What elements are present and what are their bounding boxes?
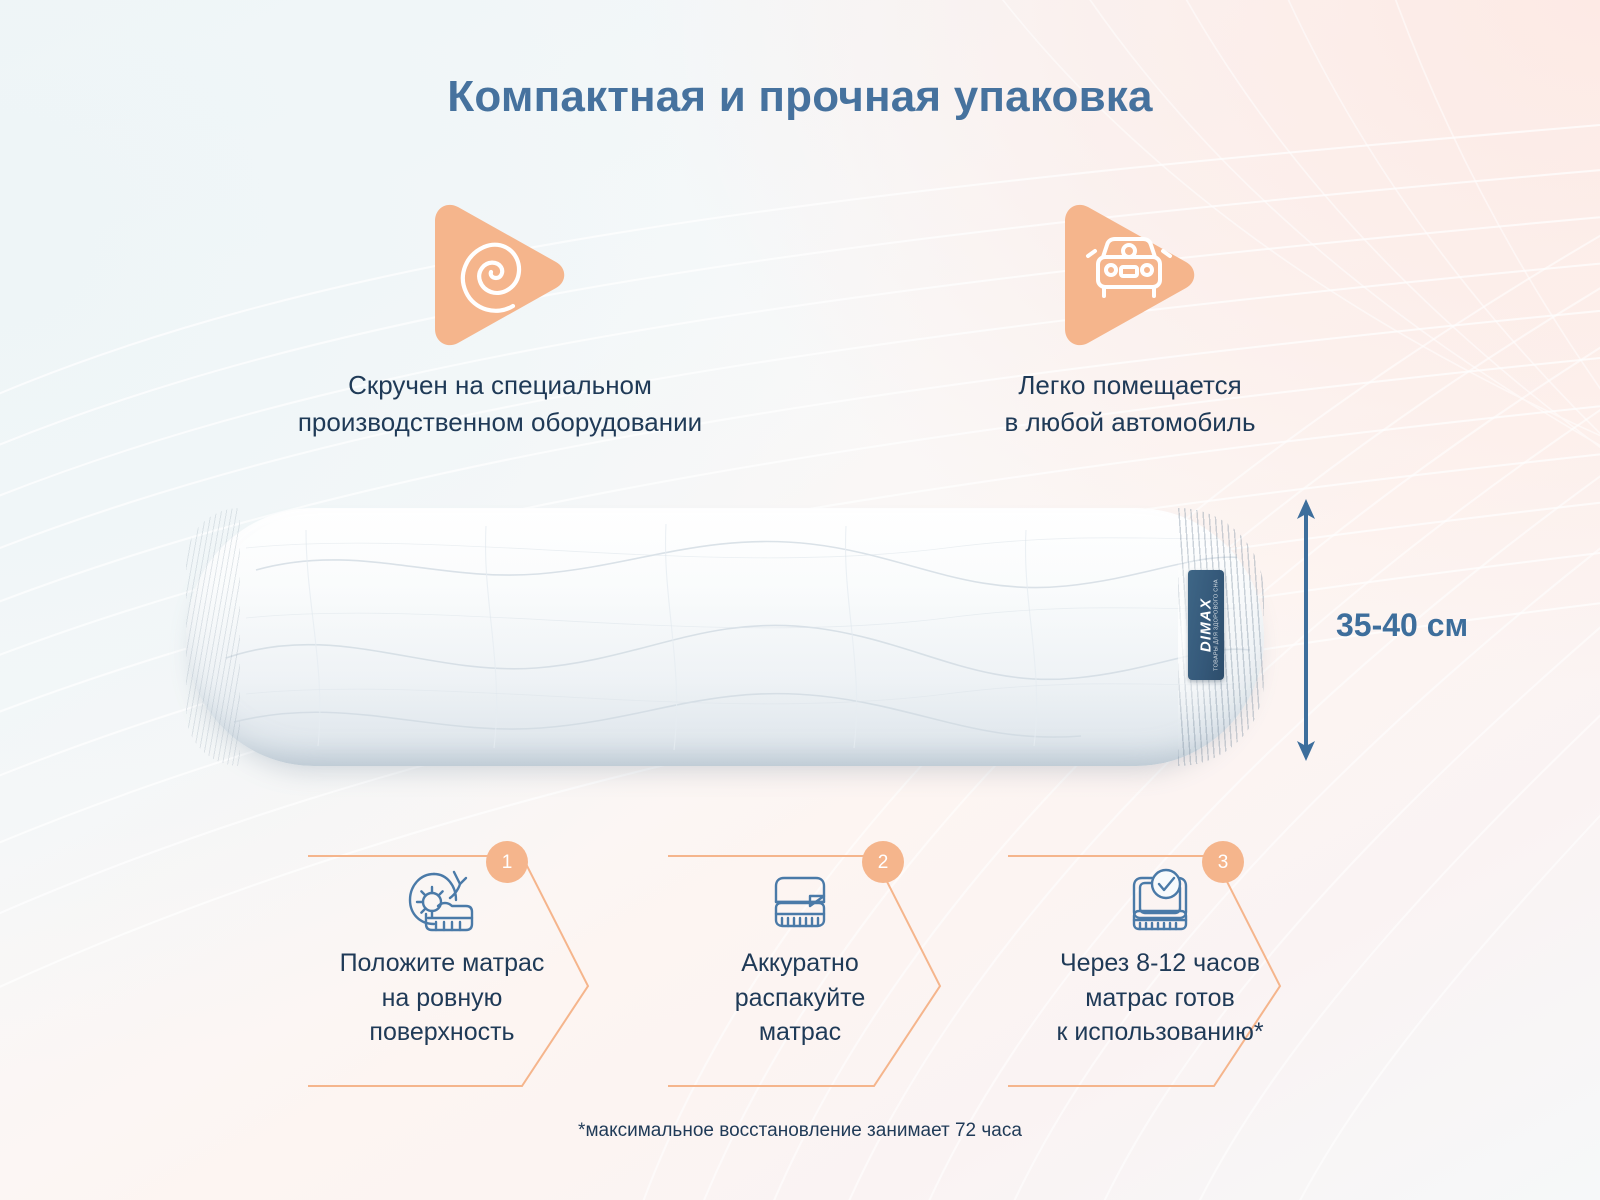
step-icon-wrapper xyxy=(650,862,950,942)
rounded-triangle-shape xyxy=(425,195,575,355)
rounded-triangle-shape xyxy=(1055,195,1205,355)
step-icon-wrapper xyxy=(282,862,602,942)
step-text: Положите матрас на ровную поверхность xyxy=(282,946,602,1050)
infographic-canvas: Компактная и прочная упаковка Скручен на… xyxy=(0,0,1600,1200)
step-text: Аккуратно распакуйте матрас xyxy=(650,946,950,1050)
steps-row: 1 Положите матрас на ро xyxy=(0,838,1600,1098)
footnote-text: *максимальное восстановление занимает 72… xyxy=(0,1120,1600,1142)
dimax-tagline-text: ТОВАРЫ ДЛЯ ЗДОРОВОГО СНА xyxy=(1214,579,1220,671)
feature-icon-wrapper xyxy=(170,195,830,355)
rolled-mattress-image: DIMAX ТОВАРЫ ДЛЯ ЗДОРОВОГО СНА xyxy=(186,508,1264,766)
feature-caption: Скручен на специальном производственном … xyxy=(170,367,830,441)
quilt-pattern xyxy=(186,508,1264,766)
double-arrow-vertical-icon xyxy=(1286,495,1326,765)
step-icon-wrapper xyxy=(1000,862,1320,942)
step-place-mattress: 1 Положите матрас на ро xyxy=(300,838,620,1096)
dimax-brand-text: DIMAX xyxy=(1199,598,1214,652)
feature-rolled-on-equipment: Скручен на специальном производственном … xyxy=(170,195,830,441)
mattress-left-end-pleats xyxy=(186,508,240,766)
step-text: Через 8-12 часов матрас готов к использо… xyxy=(1000,946,1320,1050)
dimension-value: 35-40 см xyxy=(1336,607,1468,644)
unroll-mattress-icon xyxy=(402,862,482,942)
step-unpack-mattress: 2 Аккуратно распакуйте матрас xyxy=(660,838,960,1096)
dimax-brand-label: DIMAX ТОВАРЫ ДЛЯ ЗДОРОВОГО СНА xyxy=(1188,570,1224,680)
page-title: Компактная и прочная упаковка xyxy=(0,72,1600,122)
mattress-quilt-texture xyxy=(186,508,1264,766)
step-mattress-ready: 3 Через 8-12 часов матрас готов к исполь… xyxy=(1000,838,1300,1096)
unpack-mattress-icon xyxy=(760,862,840,942)
feature-icon-wrapper xyxy=(830,195,1430,355)
feature-caption: Легко помещается в любой автомобиль xyxy=(830,367,1430,441)
feature-fits-any-car: Легко помещается в любой автомобиль xyxy=(830,195,1430,441)
mattress-ready-check-icon xyxy=(1120,862,1200,942)
height-dimension: 35-40 см xyxy=(1286,495,1586,765)
